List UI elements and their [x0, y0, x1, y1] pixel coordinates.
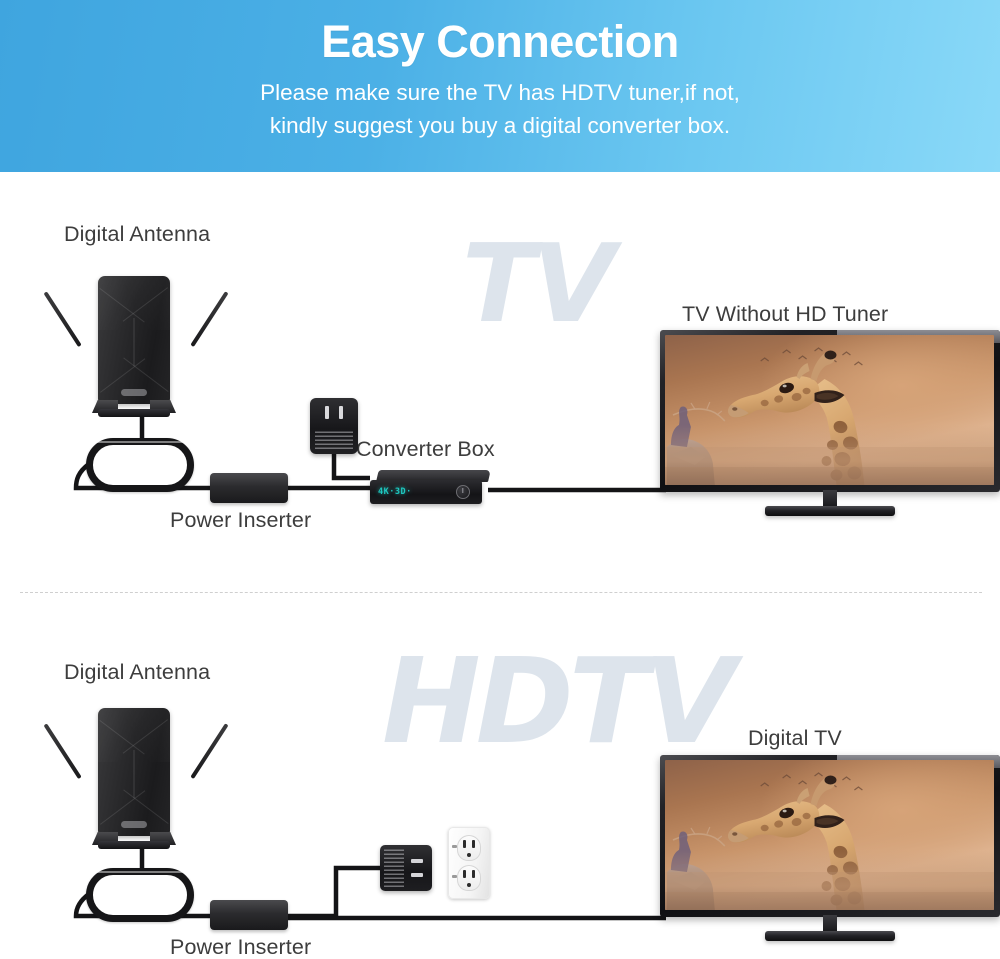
adapter-label-print [315, 429, 353, 449]
tv-stand-base-bottom [765, 931, 895, 941]
power-adapter-top [310, 398, 358, 454]
coiled-cable-loop-top [86, 438, 194, 492]
section-divider [20, 592, 982, 593]
adapter-prong-left-icon [325, 406, 329, 419]
power-inserter-top [210, 473, 288, 503]
power-adapter-bottom [380, 845, 432, 891]
digital-television [660, 755, 1000, 950]
digital-antenna-top [62, 268, 222, 448]
watermark-tv: TV [462, 222, 611, 347]
label-digital-tv: Digital TV [748, 726, 842, 751]
label-digital-antenna-bottom: Digital Antenna [64, 660, 210, 685]
converter-box-device: 4K·3D· [370, 470, 488, 504]
antenna-brand-logo-icon [121, 389, 147, 396]
label-digital-antenna-top: Digital Antenna [64, 222, 210, 247]
adapter-label-print [384, 849, 404, 887]
coiled-cable-loop-bottom [86, 868, 194, 922]
outlet-socket-bottom-icon [457, 865, 481, 891]
page-title: Easy Connection [0, 16, 1000, 68]
adapter-prong-right-icon [339, 406, 343, 419]
power-inserter-bottom [210, 900, 288, 930]
outlet-socket-top-icon [457, 835, 481, 861]
adapter-prong-top-icon [411, 859, 423, 863]
adapter-prong-bottom-icon [411, 873, 423, 877]
antenna-body [98, 708, 170, 836]
watermark-hdtv: HDTV [382, 632, 731, 770]
page-root: Easy Connection Please make sure the TV … [0, 0, 1000, 959]
digital-antenna-bottom [62, 700, 222, 880]
antenna-brand-logo-icon [121, 821, 147, 828]
label-power-inserter-bottom: Power Inserter [170, 935, 311, 959]
converter-display-text: 4K·3D· [378, 487, 412, 497]
tv-stand-base-top [765, 506, 895, 516]
header-subtitle-line-2: kindly suggest you buy a digital convert… [0, 110, 1000, 141]
antenna-stand [88, 400, 180, 416]
label-converter-box: Converter Box [356, 437, 495, 462]
tv-bezel-bottom [660, 755, 1000, 917]
header-subtitle-line-1: Please make sure the TV has HDTV tuner,i… [0, 77, 1000, 108]
tv-screen-top [665, 335, 994, 485]
label-tv-without-hd-tuner: TV Without HD Tuner [682, 302, 888, 327]
antenna-stand [88, 832, 180, 848]
wall-outlet-receptacle [448, 827, 490, 899]
tv-bezel-top [660, 330, 1000, 492]
antenna-body [98, 276, 170, 404]
label-power-inserter-top: Power Inserter [170, 508, 311, 533]
tv-screen-bottom [665, 760, 994, 910]
converter-power-knob-icon[interactable] [456, 485, 470, 499]
television-without-hd-tuner [660, 330, 1000, 525]
header-banner: Easy Connection Please make sure the TV … [0, 0, 1000, 172]
